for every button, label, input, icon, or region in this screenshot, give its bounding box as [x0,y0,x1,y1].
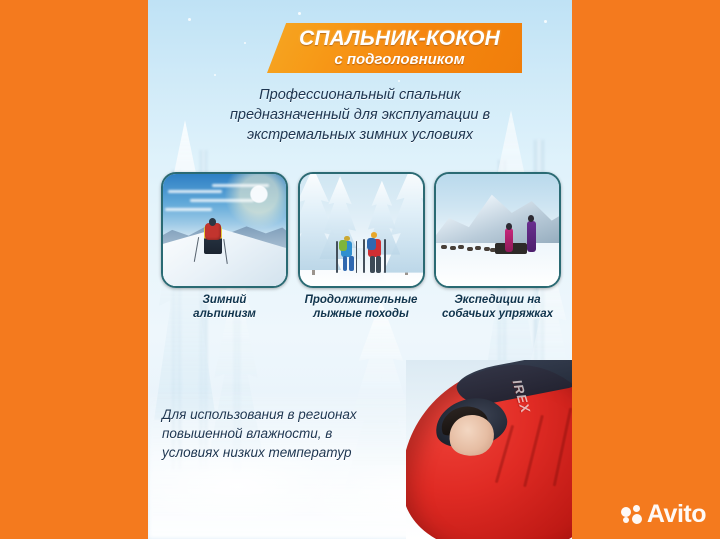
caption-line-1: Зимний [161,294,288,308]
caption-line-2: собачьих упряжках [434,308,561,322]
caption-line-1: Экспедиции на [434,294,561,308]
intro-line-1: Профессиональный спальник [168,85,552,105]
banner-subtitle: с подголовником [334,51,464,68]
feature-photo-dog-sledding [434,172,561,288]
feature-photo-winter-mountaineering [161,172,288,288]
caption-line-1: Продолжительные [298,294,425,308]
feature-card-winter-mountaineering: Зимний альпинизм [161,172,288,321]
feature-photo-ski-touring [298,172,425,288]
feature-card-ski-touring: Продолжительные лыжные походы [298,172,425,321]
intro-text: Профессиональный спальник предназначенны… [168,85,552,145]
feature-card-dog-sledding: Экспедиции на собачьих упряжках [434,172,561,321]
avito-watermark: Avito [621,502,706,527]
intro-line-3: экстремальных зимних условиях [168,125,552,145]
feature-caption-dog-sledding: Экспедиции на собачьих упряжках [434,294,561,321]
title-banner: СПАЛЬНИК-КОКОН с подголовником [267,23,522,73]
sleeping-bag-photo: IREX [406,360,572,539]
feature-caption-ski-touring: Продолжительные лыжные походы [298,294,425,321]
banner-title: СПАЛЬНИК-КОКОН [299,28,500,50]
caption-line-2: лыжные походы [298,308,425,322]
feature-caption-winter-mountaineering: Зимний альпинизм [161,294,288,321]
intro-line-2: предназначенный для эксплуатации в [168,105,552,125]
avito-dots-logo-icon [621,505,642,524]
feature-cards: Зимний альпинизм [161,172,561,321]
caption-line-2: альпинизм [161,308,288,322]
product-panel: СПАЛЬНИК-КОКОН с подголовником Профессио… [148,0,572,539]
avito-wordmark: Avito [647,502,706,527]
listing-image: СПАЛЬНИК-КОКОН с подголовником Профессио… [0,0,720,539]
